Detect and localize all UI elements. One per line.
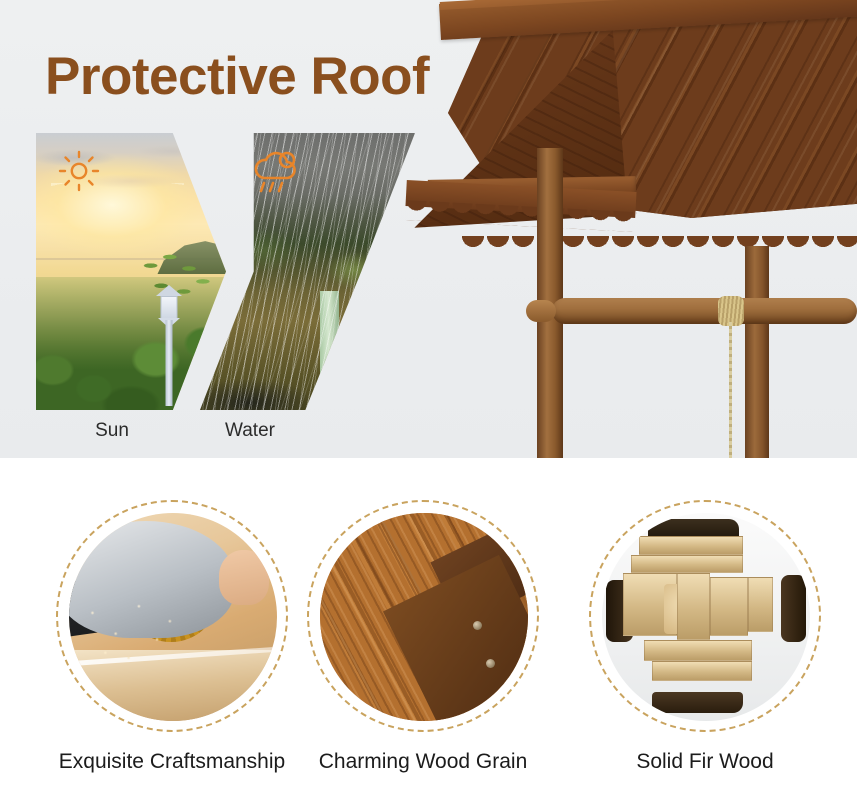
sun-icon <box>58 150 100 192</box>
feature-label: Exquisite Craftsmanship <box>52 750 292 774</box>
lamp-roof <box>156 285 182 296</box>
rain-scene-photo <box>200 133 415 410</box>
grain-scene <box>320 513 528 721</box>
dashed-circle-frame <box>307 500 539 732</box>
rain-streaks <box>200 133 415 410</box>
sun-panel-label: Sun <box>72 420 152 442</box>
bark-edge-bottom <box>652 692 744 713</box>
timber-beam <box>748 577 773 631</box>
dashed-circle-frame <box>56 500 288 732</box>
screw-icon <box>486 659 495 668</box>
lamp-pole <box>165 320 172 405</box>
feature-label: Solid Fir Wood <box>585 750 825 774</box>
rear-post <box>745 246 769 458</box>
feature-craftsmanship: Exquisite Craftsmanship <box>52 500 292 774</box>
water-photo-panel <box>200 133 415 410</box>
feature-label: Charming Wood Grain <box>303 750 543 774</box>
crank-log <box>552 298 857 324</box>
bark-edge-right <box>781 575 806 642</box>
timber-beam <box>639 536 743 555</box>
protective-roof-section: Protective Roof <box>0 0 857 458</box>
plank-edge <box>382 555 528 721</box>
feature-fir-wood: Solid Fir Wood <box>585 500 825 774</box>
features-section: Exquisite Craftsmanship Charming Wood Gr… <box>0 458 857 800</box>
product-feature-infographic: Protective Roof <box>0 0 857 800</box>
saw-scene <box>69 513 277 721</box>
lumber-stack-scene <box>602 513 810 721</box>
timber-beam <box>652 661 752 682</box>
feature-wood-grain: Charming Wood Grain <box>303 500 543 774</box>
dashed-circle-frame <box>589 500 821 732</box>
rain-cloud-icon <box>250 148 302 196</box>
garden-lamp-post <box>154 285 184 407</box>
product-photo <box>400 0 857 458</box>
water-panel-label: Water <box>200 420 300 442</box>
timber-beam <box>677 573 710 640</box>
wood-grain-photo <box>320 513 528 721</box>
craftsmanship-photo <box>69 513 277 721</box>
fir-wood-photo <box>602 513 810 721</box>
operator-hand <box>219 550 269 604</box>
roof-scalloped-edge <box>462 236 857 258</box>
timber-beam <box>631 555 743 574</box>
crank-knob <box>526 300 556 322</box>
hanging-rope <box>729 322 732 458</box>
timber-beam <box>710 577 747 635</box>
timber-beam <box>644 640 752 661</box>
sawdust-spray <box>77 588 206 671</box>
page-title: Protective Roof <box>45 50 429 103</box>
lamp-glass <box>160 296 177 320</box>
